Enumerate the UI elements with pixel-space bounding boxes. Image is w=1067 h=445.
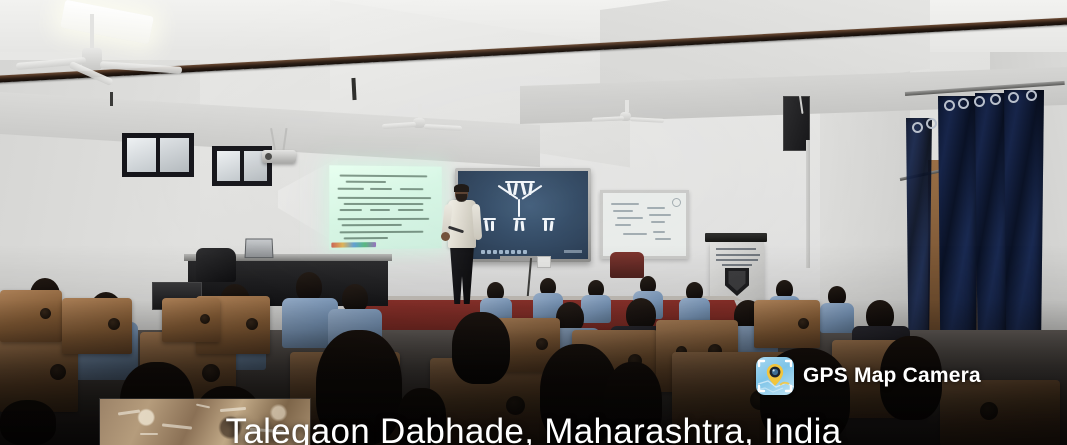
taskbar-icon[interactable] [481,250,485,254]
shield-crest-emblem [725,268,749,296]
navy-curtain-panel-1[interactable] [938,96,978,364]
whiteboard [600,190,689,259]
podium-top [705,233,767,242]
laptop[interactable] [244,239,273,259]
smart-board-stand [500,256,542,261]
navy-curtain-panel-2[interactable] [975,93,1009,365]
watermark-brand-name: GPS Map Camera [803,364,981,388]
taskbar-icon[interactable] [523,250,527,254]
taskbar-icon[interactable] [499,250,503,254]
presenter-hand [441,232,450,241]
bag [196,248,236,282]
curtain-grommet [974,96,985,107]
slide-taskbar [331,242,376,248]
curtain-grommet [944,100,955,111]
curtain-grommet [1008,92,1019,103]
gps-map-camera-photo: GPS Map Camera Talegaon Dabhade, Maharas… [0,0,1067,445]
taskbar-icon[interactable] [505,250,509,254]
watermark-location-text: Talegaon Dabhade, Maharashtra, India [0,412,1067,445]
navy-curtain-panel-4[interactable] [906,118,932,358]
curtain-grommet [1026,90,1037,101]
presenter-beard [456,194,467,202]
gps-map-camera-logo-icon [756,357,794,395]
curtain-grommet [912,122,923,133]
projected-slide [329,165,441,249]
wall-edge-pole [806,140,810,268]
smart-board-taskbar[interactable] [481,250,527,254]
whiteboard-drawn-circle [672,198,681,207]
curtain-grommet [926,118,937,129]
presenter-hair [454,184,469,192]
navy-curtain-panel-3[interactable] [1004,90,1044,366]
watermark-brand: GPS Map Camera [756,357,981,395]
pipe-hanger-2 [110,92,113,106]
curtain-grommet [990,94,1001,105]
curtain-grommet [958,98,969,109]
taskbar-icon[interactable] [517,250,521,254]
left-wall-window-1 [122,133,194,177]
wall-socket [537,256,551,268]
chair-in-front-of-whiteboard [610,252,644,278]
taskbar-icon[interactable] [511,250,515,254]
taskbar-icon[interactable] [493,250,497,254]
smart-board-status [564,250,582,253]
taskbar-icon[interactable] [487,250,491,254]
